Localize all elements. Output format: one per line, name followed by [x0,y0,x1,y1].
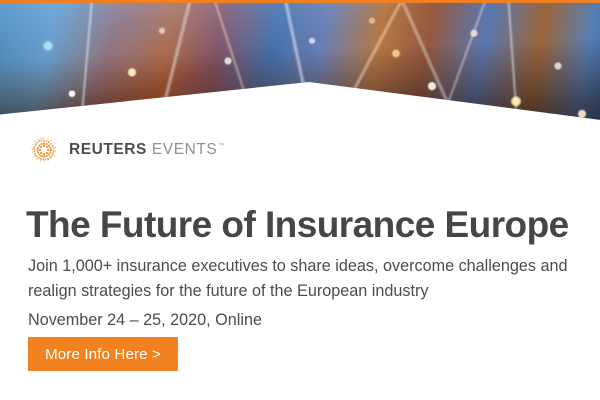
logo-brand-secondary: EVENTS [152,142,217,158]
hero-image [0,0,600,126]
logo-wordmark: REUTERS EVENTS ™ [69,142,225,158]
trademark-symbol: ™ [218,143,225,149]
reuters-events-logo[interactable]: REUTERS EVENTS ™ [28,134,225,166]
subheadline: Join 1,000+ insurance executives to shar… [28,254,576,303]
event-promo-banner: REUTERS EVENTS ™ The Future of Insurance… [0,0,600,400]
event-dateline: November 24 – 25, 2020, Online [28,309,262,332]
page-title: The Future of Insurance Europe [26,205,569,244]
reuters-dot-sun-logo-icon [28,134,60,166]
more-info-button[interactable]: More Info Here > [28,337,178,371]
logo-brand-primary: REUTERS [69,142,147,158]
